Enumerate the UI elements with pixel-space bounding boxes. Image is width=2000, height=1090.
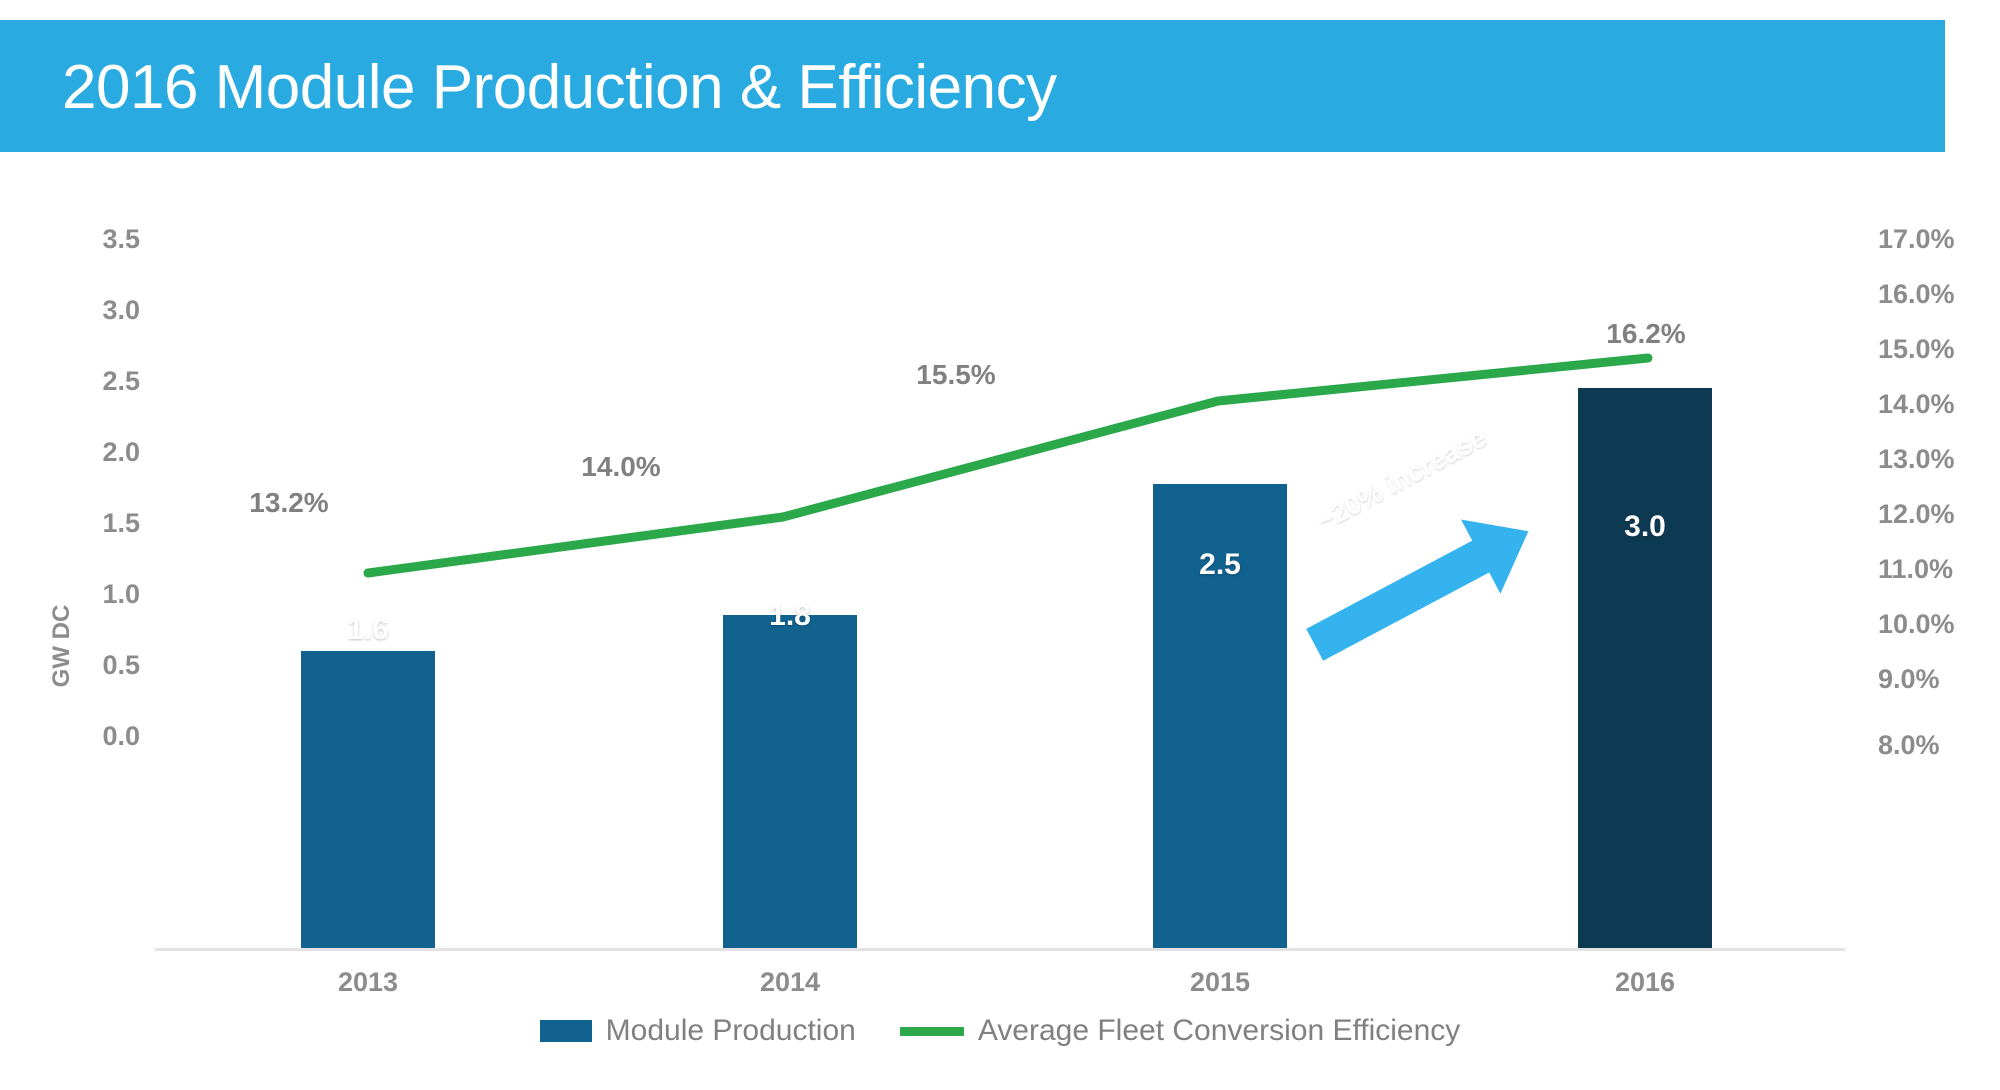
axis-baseline (155, 948, 1845, 951)
y-axis-tick: 2.5 (60, 366, 140, 397)
y2-axis-tick: 12.0% (1878, 499, 2000, 530)
y2-axis-tick: 10.0% (1878, 609, 2000, 640)
bar-value-2015: 2.5 (1153, 548, 1287, 582)
title-banner: 2016 Module Production & Efficiency (0, 20, 1945, 152)
page-title: 2016 Module Production & Efficiency (62, 52, 1057, 123)
legend-label: Average Fleet Conversion Efficiency (978, 1014, 1460, 1048)
line-label-2015: 15.5% (856, 359, 1056, 391)
y2-axis-tick: 16.0% (1878, 279, 2000, 310)
y2-axis-tick: 8.0% (1878, 730, 2000, 761)
x-axis-tick-2016: 2016 (1545, 967, 1745, 998)
bar-2014[interactable] (723, 615, 857, 948)
y2-axis-tick: 13.0% (1878, 444, 2000, 475)
x-axis-tick-2014: 2014 (690, 967, 890, 998)
y2-axis-tick: 9.0% (1878, 664, 2000, 695)
bar-2013[interactable] (301, 651, 435, 948)
bar-swatch-icon (540, 1020, 592, 1042)
line-label-2014: 14.0% (521, 451, 721, 483)
legend-item-average-fleet-conversion-efficiency[interactable]: Average Fleet Conversion Efficiency (900, 1014, 1460, 1048)
y-axis-tick: 3.0 (60, 295, 140, 326)
slide-canvas: 2016 Module Production & Efficiency GW D… (0, 0, 2000, 1090)
bar-2016[interactable] (1578, 388, 1712, 948)
y-axis-tick: 3.5 (60, 224, 140, 255)
y-axis-tick: 2.0 (60, 437, 140, 468)
y-axis-tick: 1.0 (60, 579, 140, 610)
y2-axis-tick: 11.0% (1878, 554, 2000, 585)
line-label-2016: 16.2% (1546, 318, 1746, 350)
legend-label: Module Production (606, 1014, 856, 1048)
y2-axis-tick: 14.0% (1878, 389, 2000, 420)
line-swatch-icon (900, 1027, 964, 1036)
y2-axis-tick: 15.0% (1878, 334, 2000, 365)
chart-area: GW DC 3.5 3.0 2.5 2.0 1.5 1.0 0.5 0.0 17… (0, 152, 2000, 1090)
chart-legend: Module Production Average Fleet Conversi… (0, 1014, 2000, 1048)
y-axis-tick: 0.5 (60, 650, 140, 681)
bar-value-2014: 1.8 (723, 599, 857, 633)
y-axis-tick: 0.0 (60, 721, 140, 752)
bar-value-2013: 1.6 (301, 613, 435, 647)
y-axis-tick: 1.5 (60, 508, 140, 539)
y2-axis-tick: 17.0% (1878, 224, 2000, 255)
x-axis-tick-2013: 2013 (268, 967, 468, 998)
legend-item-module-production[interactable]: Module Production (540, 1014, 856, 1048)
line-label-2013: 13.2% (189, 487, 389, 519)
x-axis-tick-2015: 2015 (1120, 967, 1320, 998)
